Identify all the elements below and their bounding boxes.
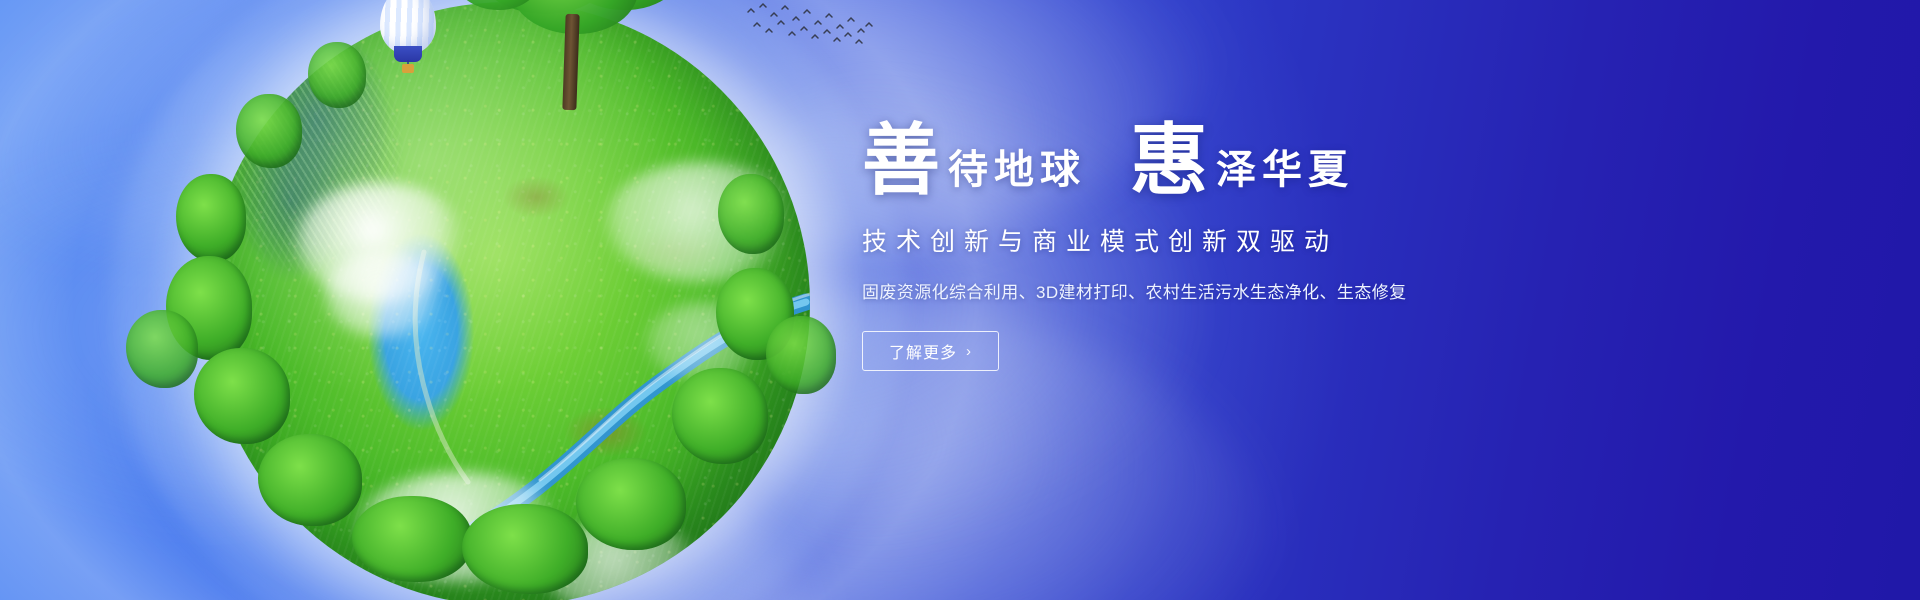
globe-cloud (356, 472, 566, 582)
globe-illustration (148, 0, 868, 600)
globe-cloud (606, 162, 796, 282)
tree-icon (448, 0, 698, 86)
headline-rest-zehuaxia: 泽华夏 (1208, 150, 1354, 200)
hot-air-balloon-icon (380, 0, 436, 78)
chevron-right-icon: › (966, 343, 972, 360)
headline-char-shan: 善 (862, 122, 940, 200)
banner-content: 善 待地球 惠 泽华夏 技术创新与商业模式创新双驱动 固废资源化综合利用、3D建… (862, 122, 1562, 371)
headline-rest-daidiqiu: 待地球 (940, 150, 1086, 200)
learn-more-label: 了解更多 (889, 339, 957, 363)
learn-more-button[interactable]: 了解更多 › (862, 331, 999, 371)
green-earth-globe (206, 2, 810, 600)
globe-cloud (646, 302, 766, 382)
hero-banner: 善 待地球 惠 泽华夏 技术创新与商业模式创新双驱动 固废资源化综合利用、3D建… (0, 0, 1920, 600)
birds-icon (744, 2, 874, 48)
headline-char-hui: 惠 (1130, 122, 1208, 200)
banner-description: 固废资源化综合利用、3D建材打印、农村生活污水生态净化、生态修复 (862, 278, 1562, 303)
page-title: 善 待地球 惠 泽华夏 (862, 122, 1562, 200)
globe-cloud (324, 252, 444, 338)
banner-subtitle: 技术创新与商业模式创新双驱动 (862, 222, 1562, 258)
